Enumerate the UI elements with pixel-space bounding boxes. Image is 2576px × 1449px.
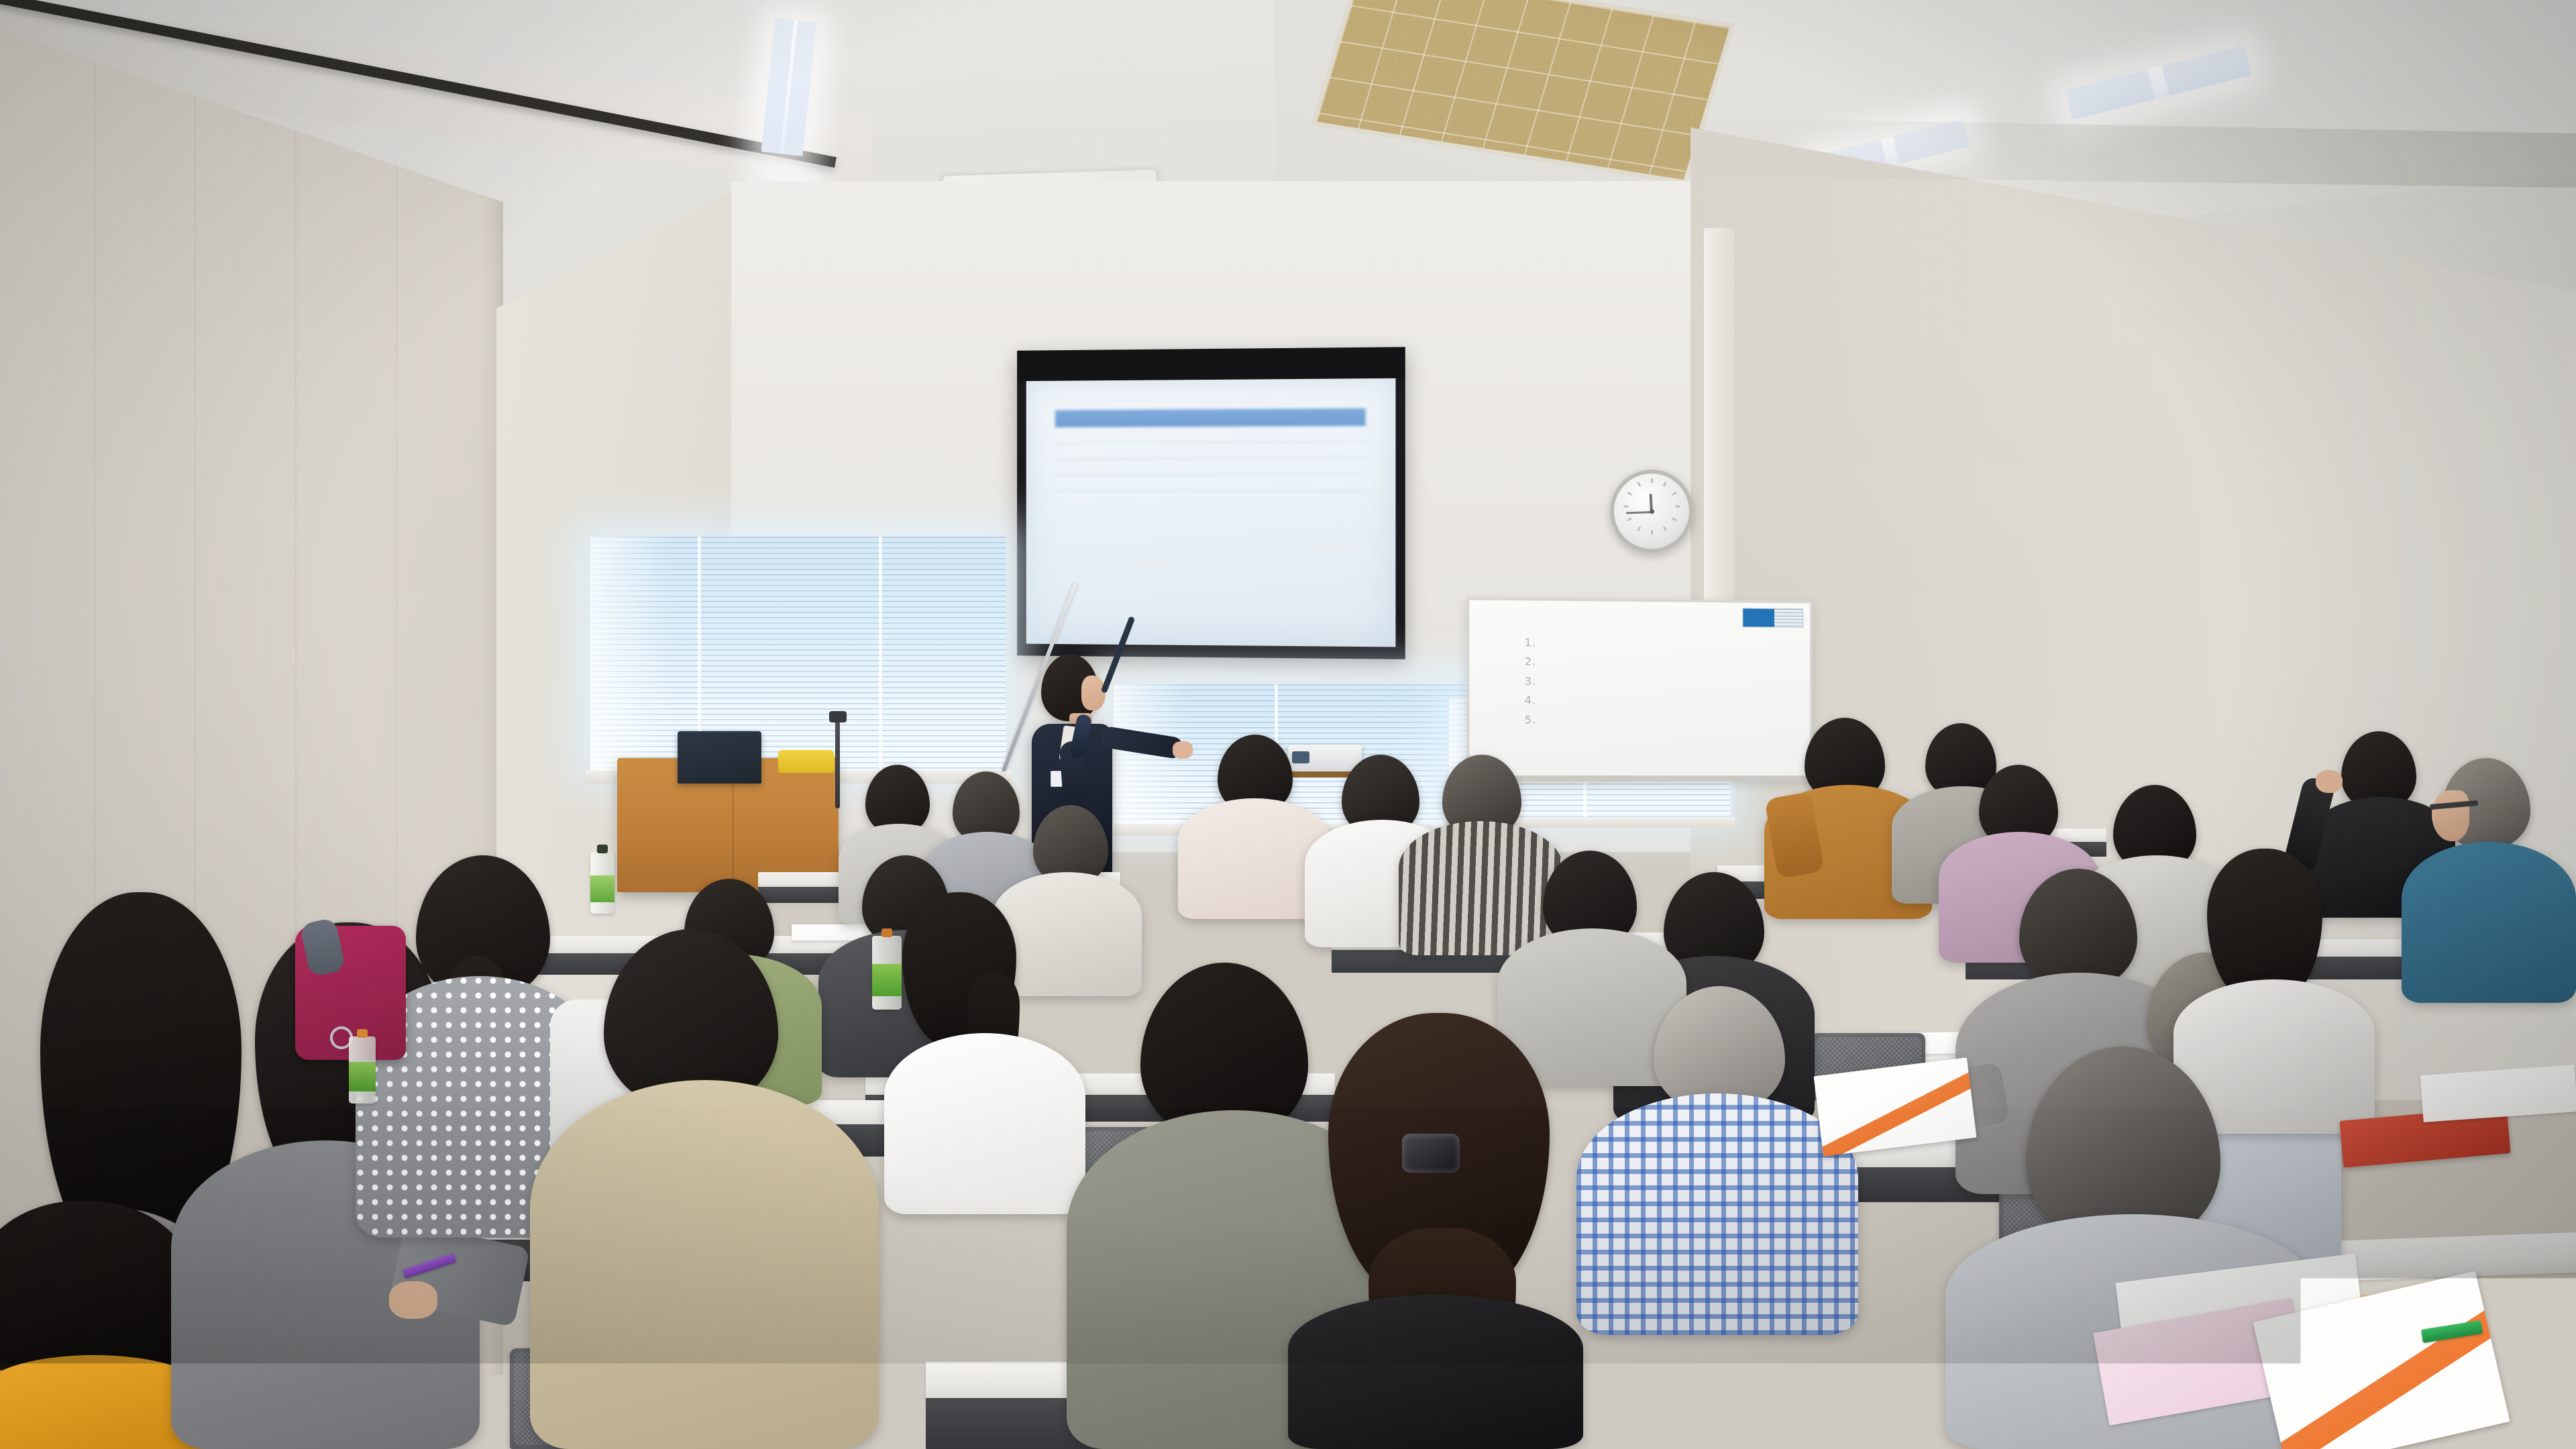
slide-cell-mid bbox=[1133, 466, 1294, 466]
lectern-laptop bbox=[678, 731, 761, 784]
clock-center-pin bbox=[1650, 509, 1654, 514]
green-tea-bottle bbox=[349, 1036, 376, 1104]
audience-body bbox=[993, 872, 1142, 996]
audience-body bbox=[1576, 1093, 1858, 1335]
green-tea-bottle bbox=[590, 852, 614, 914]
clock-minute-hand bbox=[1626, 511, 1652, 514]
slide-subtitle bbox=[1057, 433, 1375, 434]
seminar-room-photograph: 1.2.3.4.5. bbox=[0, 0, 2576, 1449]
slide-row bbox=[1055, 465, 1366, 466]
audience-body bbox=[2402, 842, 2576, 1003]
projection-screen bbox=[1017, 347, 1405, 659]
slide-divider bbox=[1055, 474, 1366, 476]
screen-surface bbox=[1026, 378, 1396, 647]
slide-divider bbox=[1055, 441, 1366, 443]
slide-cell-mid bbox=[1133, 433, 1294, 433]
audience-hand bbox=[2316, 770, 2343, 793]
slide-content bbox=[1026, 378, 1396, 647]
microphone-stand bbox=[835, 721, 840, 808]
microphone-icon bbox=[829, 711, 847, 722]
whiteboard-marker-tray bbox=[1473, 775, 1809, 782]
slide-row bbox=[1055, 482, 1366, 482]
whiteboard-handwriting: 1.2.3.4.5. bbox=[1525, 633, 1537, 730]
whiteboard-magnet-card bbox=[1742, 608, 1803, 627]
audience-body bbox=[884, 1033, 1085, 1214]
window-blinds-left bbox=[590, 537, 1006, 771]
screen-roller-casing bbox=[1017, 347, 1405, 381]
audience-body bbox=[1399, 821, 1563, 955]
handout-paper bbox=[2420, 1065, 2576, 1122]
presenter-hand bbox=[1173, 741, 1193, 759]
hair-clip-icon bbox=[1402, 1134, 1460, 1173]
presenter-face bbox=[1081, 676, 1106, 710]
whiteboard: 1.2.3.4.5. bbox=[1466, 597, 1812, 784]
audience-body bbox=[1288, 1295, 1583, 1449]
green-tea-bottle bbox=[872, 936, 902, 1010]
slide-cell-mid bbox=[1133, 449, 1294, 450]
audience-body bbox=[530, 1080, 879, 1449]
projector bbox=[1288, 745, 1362, 771]
slide-title-bar bbox=[1055, 409, 1366, 427]
audience-hand bbox=[389, 1281, 437, 1319]
slide-divider bbox=[1055, 490, 1366, 491]
slide-row bbox=[1055, 449, 1366, 450]
wall-clock bbox=[1610, 470, 1693, 553]
yellow-item-on-lectern bbox=[778, 750, 835, 773]
audience-face-profile bbox=[2432, 790, 2469, 841]
slide-divider bbox=[1055, 458, 1366, 459]
slide-row bbox=[1055, 433, 1366, 434]
